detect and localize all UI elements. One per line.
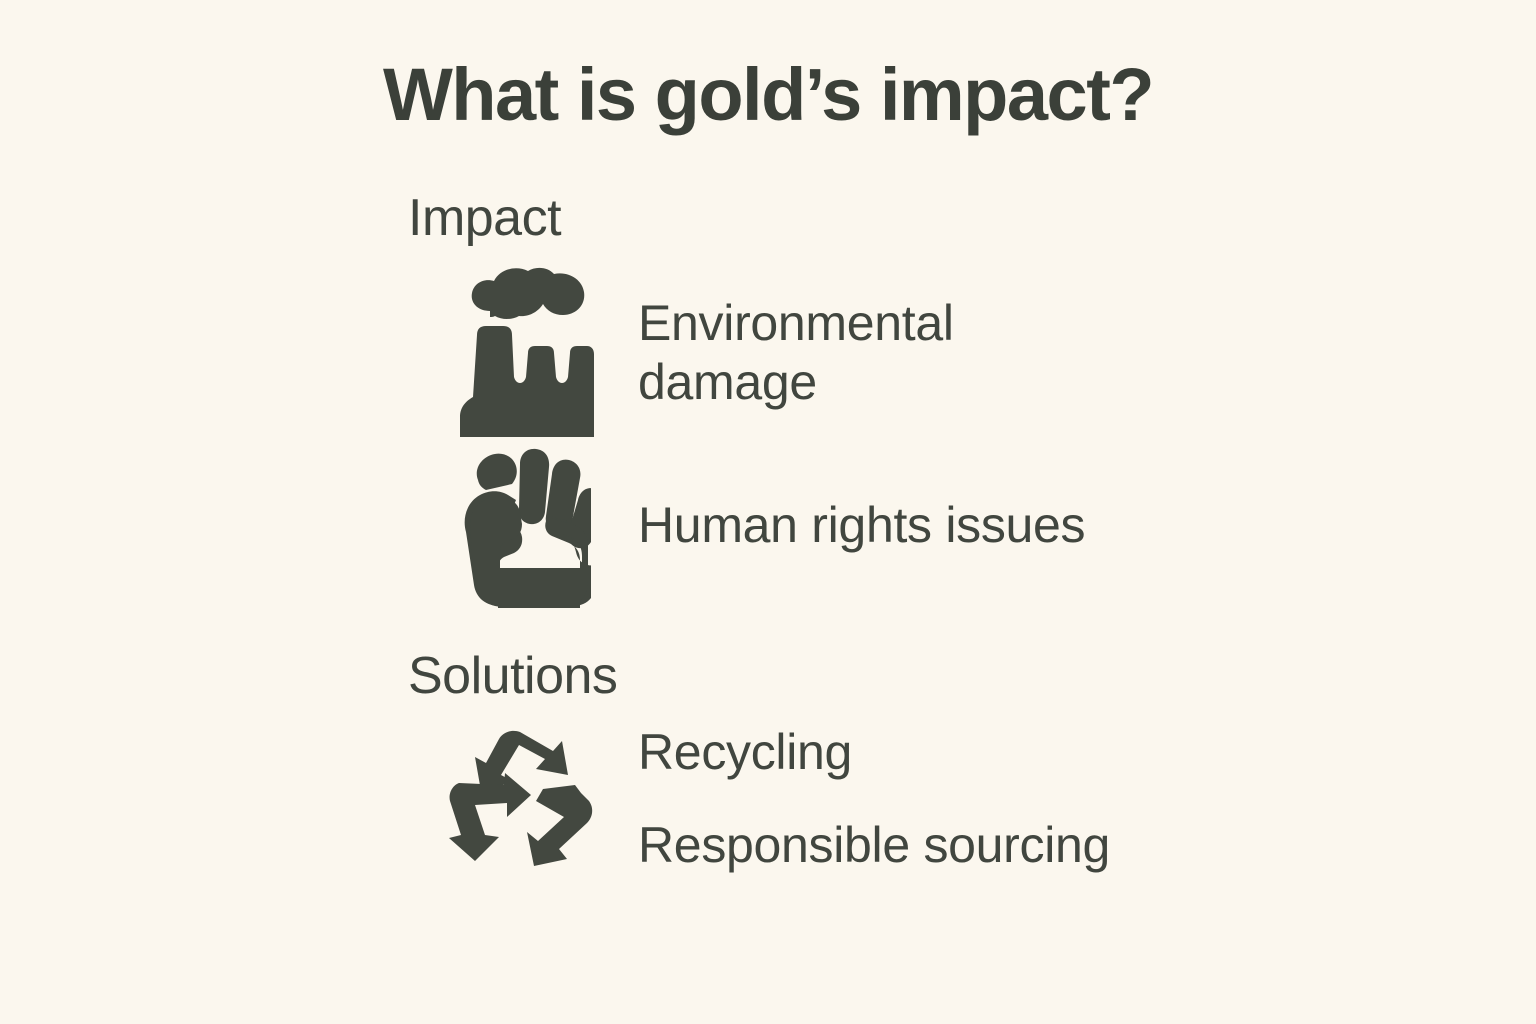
recycling-icon — [408, 727, 638, 872]
solutions-item-list: Recycling Responsible sourcing — [408, 723, 1408, 875]
impact-item-list: Environmental damage — [408, 265, 1408, 610]
section-heading-solutions: Solutions — [408, 648, 1408, 705]
solutions-labels: Recycling Responsible sourcing — [638, 723, 1110, 875]
list-item: Environmental damage — [408, 265, 1408, 440]
slide-canvas: What is gold’s impact? Impact Environmen… — [0, 0, 1536, 1024]
factory-icon — [408, 265, 638, 440]
section-solutions: Solutions Recycli — [408, 648, 1408, 875]
raised-fist-icon — [408, 440, 638, 610]
list-item-label: Environmental damage — [638, 294, 1098, 412]
list-item-label: Responsible sourcing — [638, 816, 1110, 875]
list-item-label: Recycling — [638, 723, 1098, 782]
list-item: Human rights issues — [408, 440, 1408, 610]
content-column: Impact Environmental damage — [408, 190, 1408, 875]
section-impact: Impact Environmental damage — [408, 190, 1408, 610]
page-title: What is gold’s impact? — [0, 58, 1536, 132]
section-heading-impact: Impact — [408, 190, 1408, 247]
list-item-label: Human rights issues — [638, 496, 1085, 555]
